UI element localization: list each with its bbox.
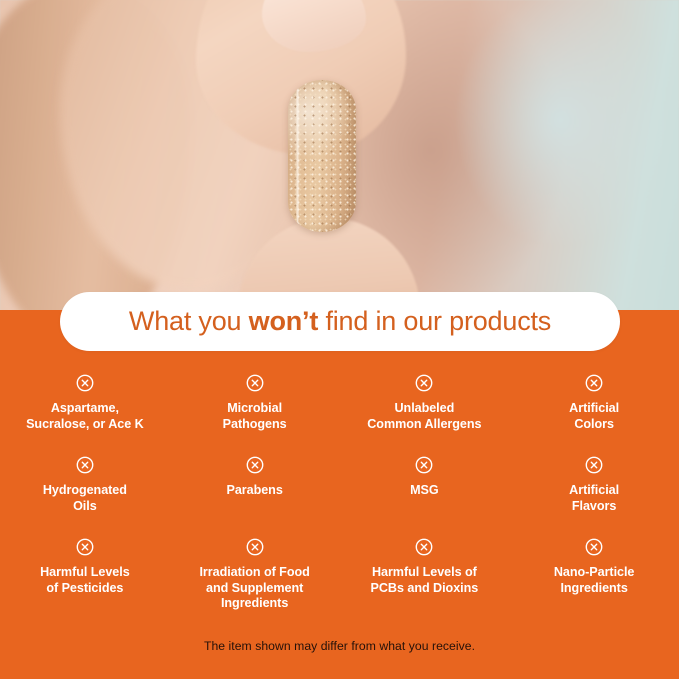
tablet-highlight-seam — [295, 84, 300, 228]
headline-pill: What you won’t find in our products — [60, 292, 620, 351]
exclusion-item: Hydrogenated Oils — [0, 454, 170, 536]
exclusions-row: Aspartame, Sucralose, or Ace K Microbial… — [0, 372, 679, 454]
circle-x-icon — [76, 456, 94, 474]
exclusion-item: Parabens — [170, 454, 340, 536]
exclusions-grid: Aspartame, Sucralose, or Ace K Microbial… — [0, 372, 679, 624]
exclusion-label: Parabens — [226, 483, 282, 499]
page-title: What you won’t find in our products — [129, 306, 551, 337]
exclusion-item: Nano-Particle Ingredients — [509, 536, 679, 624]
headline-suffix: find in our products — [318, 306, 551, 336]
exclusion-label: Artificial Colors — [569, 401, 619, 432]
exclusion-item: Unlabeled Common Allergens — [340, 372, 510, 454]
exclusion-label: Aspartame, Sucralose, or Ace K — [26, 401, 144, 432]
headline-prefix: What you — [129, 306, 249, 336]
exclusion-label: MSG — [410, 483, 439, 499]
exclusion-item: Microbial Pathogens — [170, 372, 340, 454]
supplement-tablet — [288, 80, 356, 232]
hand-holding-tablet-photo — [0, 0, 679, 312]
circle-x-icon — [246, 456, 264, 474]
circle-x-icon — [585, 374, 603, 392]
exclusions-panel: Aspartame, Sucralose, or Ace K Microbial… — [0, 310, 679, 679]
exclusion-label: Unlabeled Common Allergens — [367, 401, 481, 432]
disclaimer-footnote: The item shown may differ from what you … — [0, 639, 679, 653]
exclusions-row: Hydrogenated Oils Parabens MSG Artificia… — [0, 454, 679, 536]
circle-x-icon — [246, 538, 264, 556]
exclusion-label: Nano-Particle Ingredients — [554, 565, 635, 596]
exclusion-item: Artificial Colors — [509, 372, 679, 454]
circle-x-icon — [76, 374, 94, 392]
exclusion-item: Harmful Levels of PCBs and Dioxins — [340, 536, 510, 624]
exclusion-item: MSG — [340, 454, 510, 536]
circle-x-icon — [246, 374, 264, 392]
exclusion-label: Microbial Pathogens — [223, 401, 287, 432]
exclusion-label: Artificial Flavors — [569, 483, 619, 514]
circle-x-icon — [415, 374, 433, 392]
headline-emphasis: won’t — [249, 306, 318, 336]
exclusion-item: Irradiation of Food and Supplement Ingre… — [170, 536, 340, 624]
exclusion-item: Aspartame, Sucralose, or Ace K — [0, 372, 170, 454]
exclusion-label: Irradiation of Food and Supplement Ingre… — [199, 565, 309, 612]
product-infographic: Aspartame, Sucralose, or Ace K Microbial… — [0, 0, 679, 679]
exclusions-row: Harmful Levels of Pesticides Irradiation… — [0, 536, 679, 624]
exclusion-label: Harmful Levels of PCBs and Dioxins — [371, 565, 479, 596]
exclusion-label: Hydrogenated Oils — [43, 483, 127, 514]
circle-x-icon — [585, 538, 603, 556]
circle-x-icon — [415, 538, 433, 556]
circle-x-icon — [76, 538, 94, 556]
exclusion-label: Harmful Levels of Pesticides — [40, 565, 130, 596]
circle-x-icon — [415, 456, 433, 474]
exclusion-item: Artificial Flavors — [509, 454, 679, 536]
exclusion-item: Harmful Levels of Pesticides — [0, 536, 170, 624]
circle-x-icon — [585, 456, 603, 474]
